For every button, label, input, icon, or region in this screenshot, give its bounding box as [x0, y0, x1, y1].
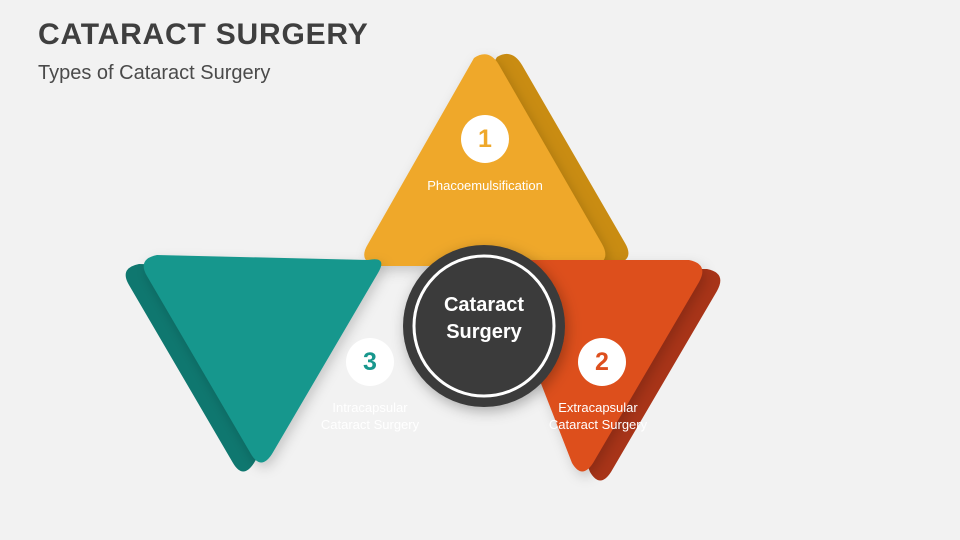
segment-2-number: 2	[578, 338, 626, 386]
center-label-line1: Cataract	[408, 292, 560, 319]
segment-3-group[interactable]	[126, 255, 382, 472]
slide-canvas: CATARACT SURGERY Types of Cataract Surge…	[0, 0, 960, 540]
diagram-svg	[0, 0, 960, 540]
segment-1-number: 1	[461, 115, 509, 163]
center-label: Cataract Surgery	[408, 292, 560, 346]
triangle-diagram: Cataract Surgery 1 2 3 Phacoemulsificati…	[0, 0, 960, 540]
center-label-line2: Surgery	[408, 319, 560, 346]
segment-3-number: 3	[346, 338, 394, 386]
